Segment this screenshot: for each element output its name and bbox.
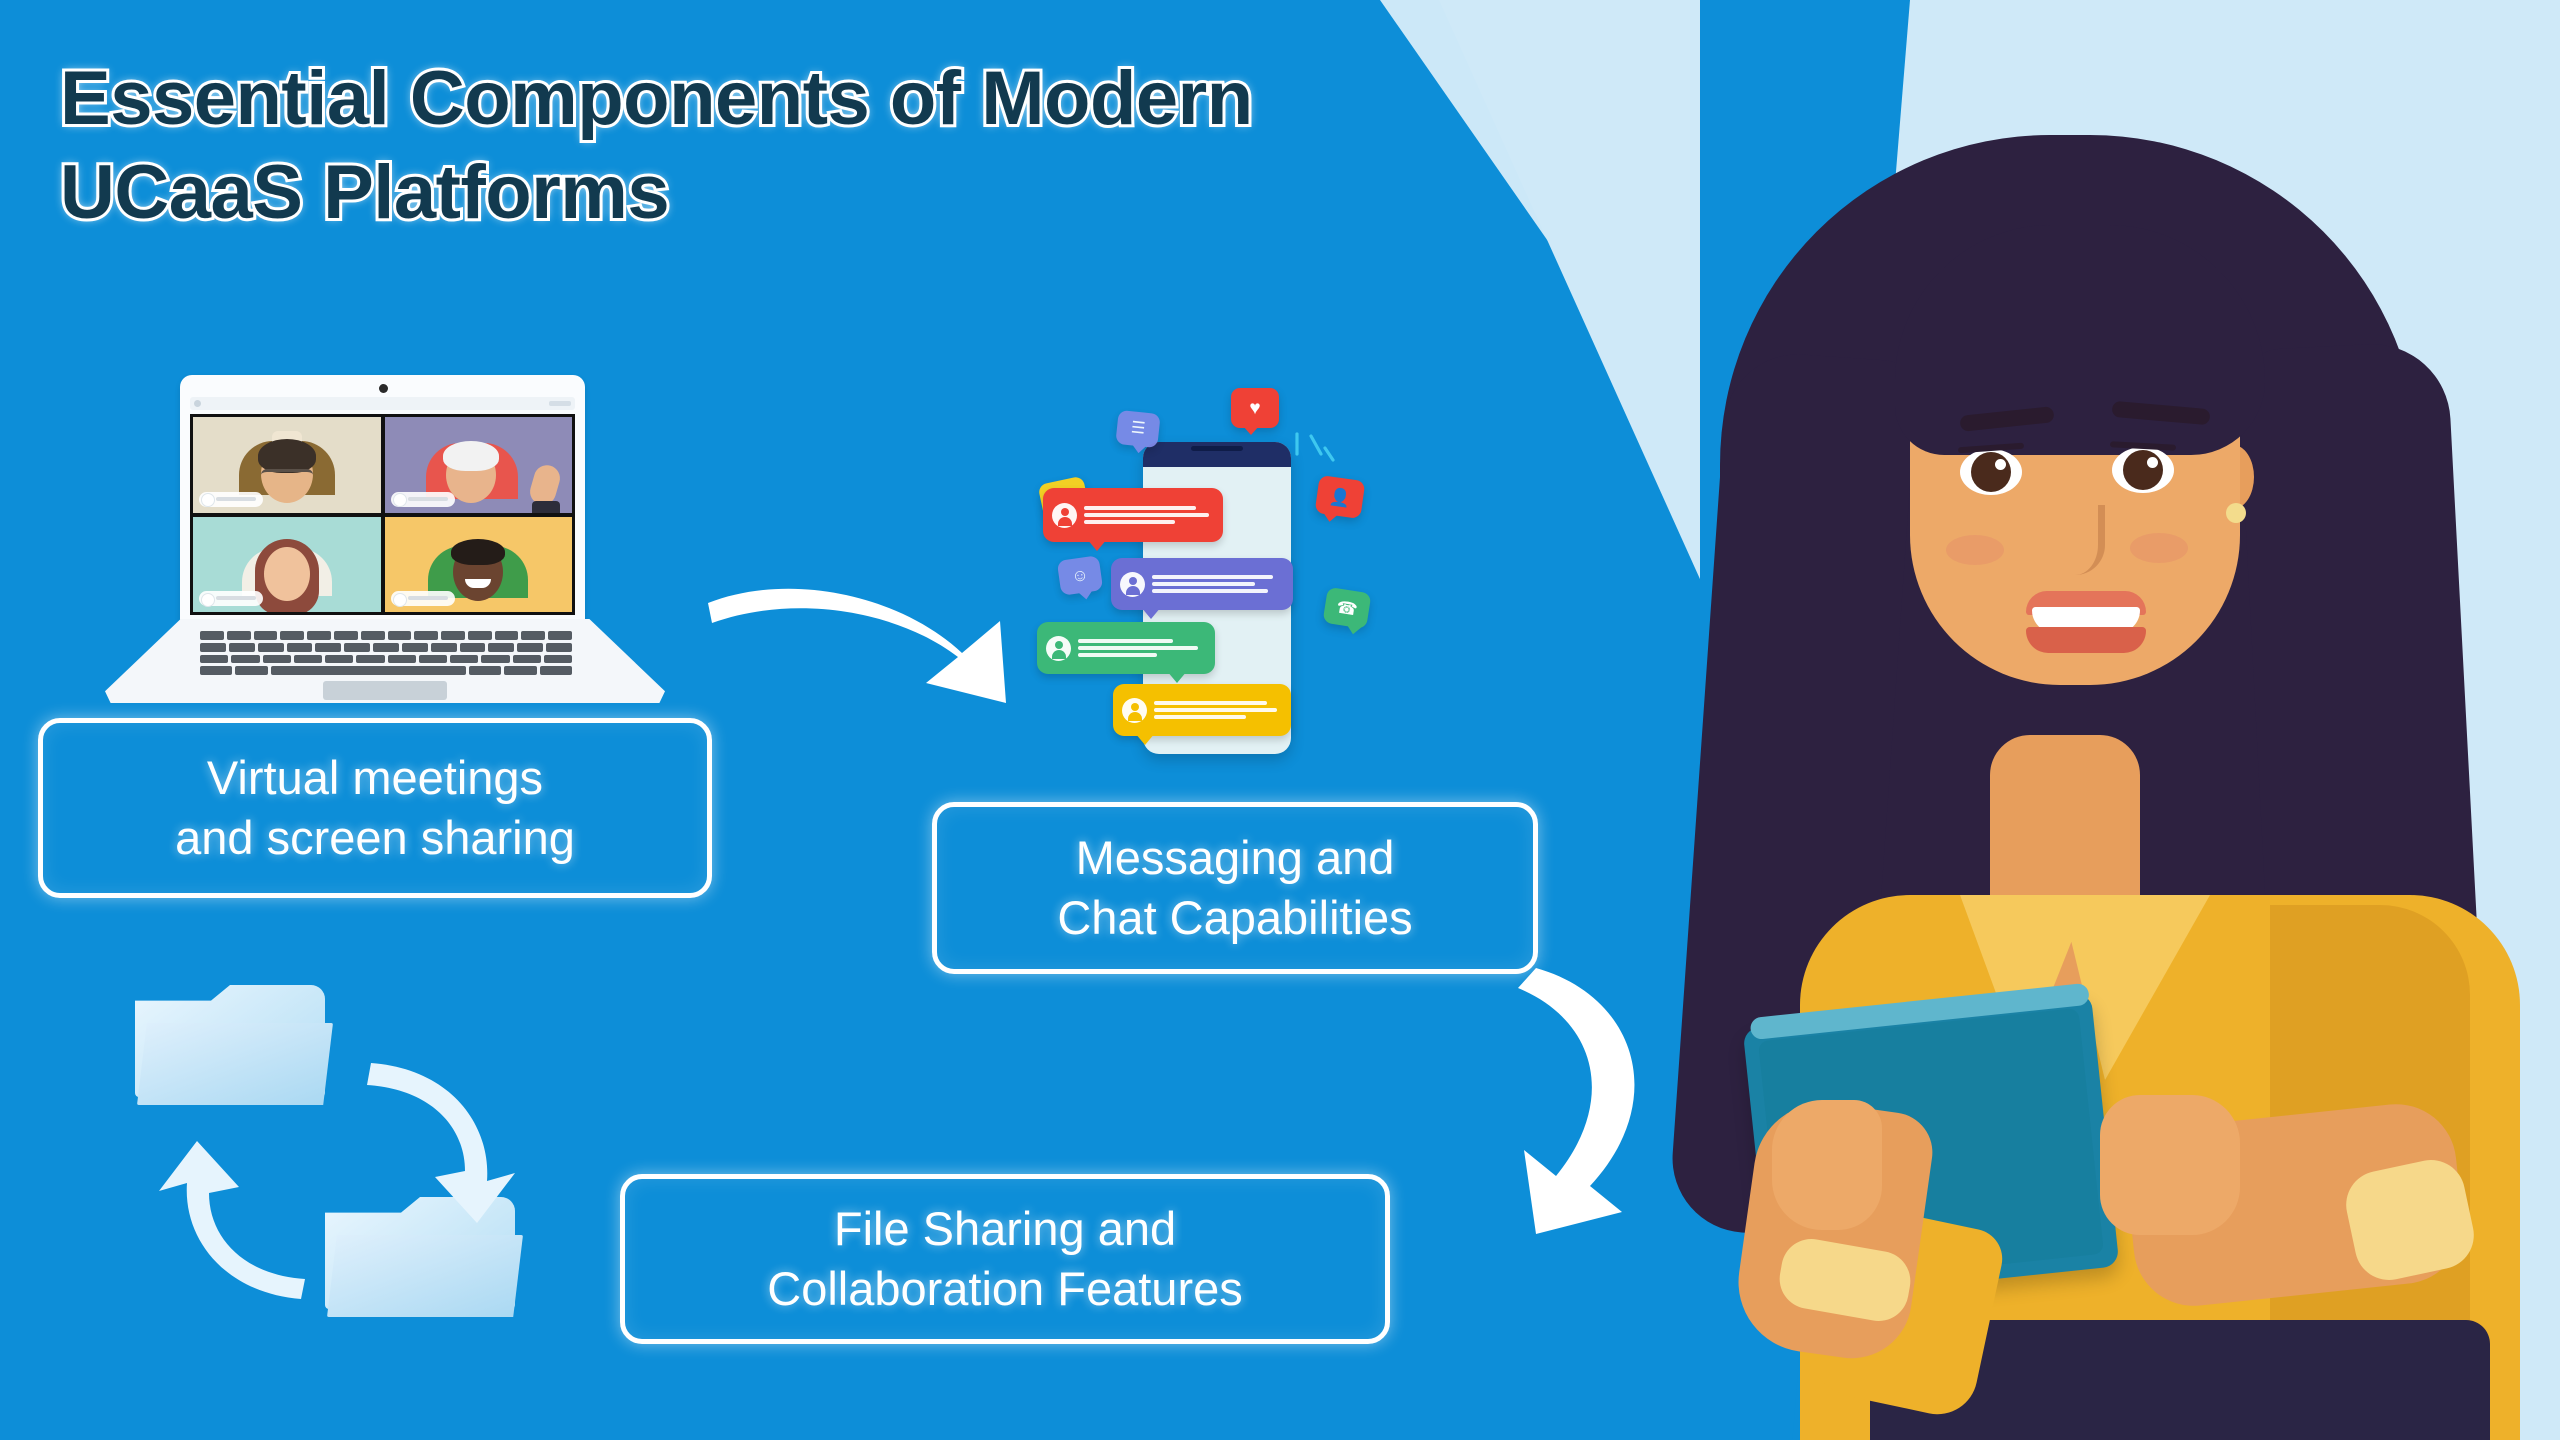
nose [2056,505,2105,575]
label-file-sharing[interactable]: File Sharing and Collaboration Features [620,1174,1390,1344]
woman-holding-tablet [1660,105,2560,1440]
window-controls-icon [549,401,571,406]
hand-left [1772,1100,1882,1230]
phone-top-bar [1143,442,1291,467]
chat-bubble-red [1043,488,1223,542]
laptop-window-chrome [190,397,575,410]
participant-tile [385,517,573,613]
notification-person-icon: 👤 [1315,475,1366,519]
eye-left [1960,449,2022,495]
laptop-camera-icon [379,384,388,393]
label-line-1: Virtual meetings [175,748,575,808]
eye-right [2112,447,2174,493]
label-line-2: Collaboration Features [767,1259,1243,1319]
mic-icon [393,593,407,607]
person-icon [1052,503,1077,528]
participant-grid [190,414,575,615]
sparkle-icon [1291,432,1335,472]
participant-tile [385,417,573,513]
heart-icon: ♥ [1231,388,1279,428]
label-line-2: Chat Capabilities [1057,888,1412,948]
glasses-icon [261,469,313,482]
participant-tile [193,517,381,613]
laptop-lid [180,375,585,623]
emoji-face-icon: ☺ [1057,555,1103,596]
label-virtual-meetings[interactable]: Virtual meetings and screen sharing [38,718,712,898]
file-sharing-folders [135,985,545,1375]
person-icon [1122,698,1147,723]
person-icon [1046,636,1071,661]
laptop-keyboard [200,631,572,675]
chat-bubble-blue [1111,558,1293,610]
arrow-meetings-to-messaging [700,565,1030,705]
blush-left [1946,535,2004,565]
infographic-canvas: Essential Components of Modern UCaaS Pla… [0,0,2560,1440]
messaging-phone: ☰ ☰ ♥ 👤 ☺ ☎ [1035,370,1415,770]
blush-right [2130,533,2188,563]
lower-lip [2026,627,2146,653]
participant-nameplate [391,492,455,507]
participant-nameplate [199,591,263,606]
sync-arrows-icon [135,985,545,1375]
label-line-2: and screen sharing [175,808,575,868]
participant-tile [193,417,381,513]
earring [2226,503,2246,523]
hand-right [2100,1095,2240,1235]
phone-call-icon: ☎ [1322,587,1371,629]
chat-lines-icon: ☰ [1115,410,1160,448]
phone-speaker-icon [1191,446,1243,451]
chat-bubble-yellow [1113,684,1291,736]
window-dot-icon [194,400,201,407]
laptop-trackpad [323,681,447,700]
participant-nameplate [199,492,263,507]
mic-icon [201,493,215,507]
participant-nameplate [391,591,455,606]
label-messaging-chat[interactable]: Messaging and Chat Capabilities [932,802,1538,974]
chat-bubble-green [1037,622,1215,674]
person-icon [1120,572,1145,597]
watch-icon [532,501,560,513]
label-line-1: File Sharing and [767,1199,1243,1259]
mic-icon [201,593,215,607]
video-call-laptop [105,375,665,705]
label-line-1: Messaging and [1057,828,1412,888]
mic-icon [393,493,407,507]
